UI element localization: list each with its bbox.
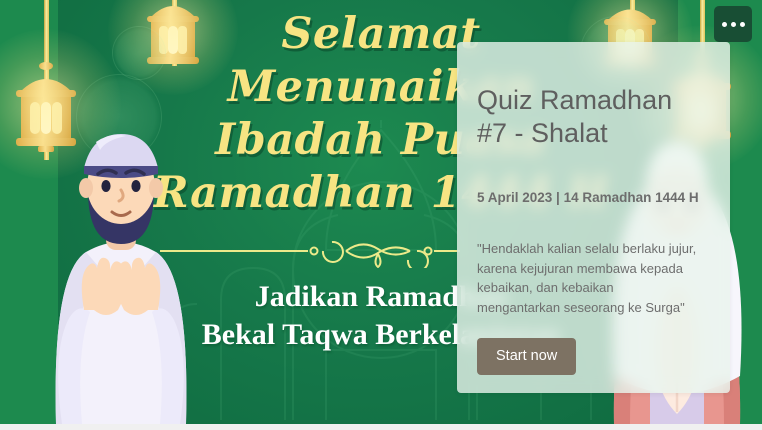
menu-dot bbox=[731, 22, 736, 27]
page-bottom-strip bbox=[0, 424, 762, 430]
ramadan-banner: Selamat Menunaikan Ibadah Puasa Ramadhan… bbox=[0, 0, 762, 424]
quiz-date: 5 April 2023 | 14 Ramadhan 1444 H bbox=[477, 188, 709, 208]
menu-dot bbox=[740, 22, 745, 27]
quiz-overlay-card: Quiz Ramadhan #7 - Shalat 5 April 2023 |… bbox=[457, 42, 730, 393]
bokeh-circle bbox=[112, 26, 166, 80]
praying-man-icon bbox=[26, 124, 216, 424]
menu-dot bbox=[722, 22, 727, 27]
start-now-button[interactable]: Start now bbox=[477, 338, 576, 375]
quiz-title: Quiz Ramadhan #7 - Shalat bbox=[477, 84, 692, 150]
quiz-quote: "Hendaklah kalian selalu berlaku jujur, … bbox=[477, 239, 699, 317]
screenshot-root: Selamat Menunaikan Ibadah Puasa Ramadhan… bbox=[0, 0, 762, 430]
kebab-menu-icon[interactable] bbox=[714, 6, 752, 42]
